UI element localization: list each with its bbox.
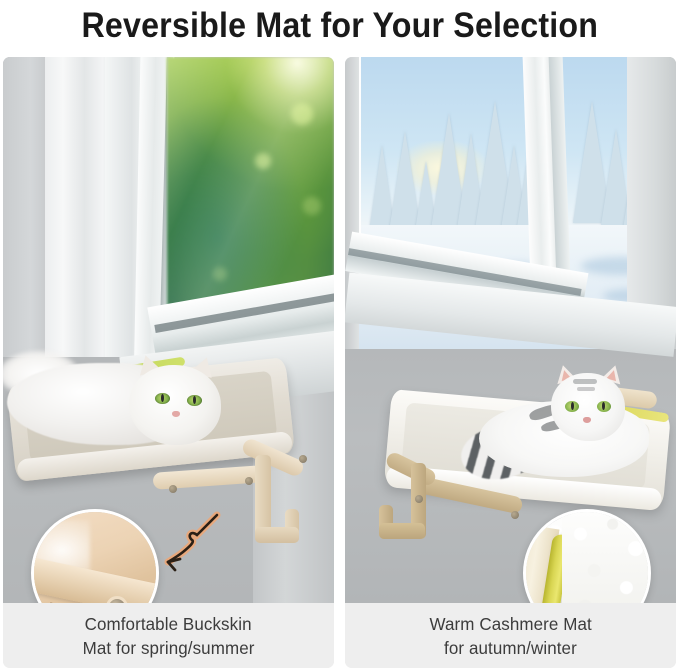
- caption-line-1: Warm Cashmere Mat: [429, 612, 591, 636]
- caption-cashmere: Warm Cashmere Mat for autumn/winter: [345, 603, 676, 668]
- screw-icon: [245, 477, 253, 485]
- cat-head: [129, 365, 221, 445]
- cat-eye-left: [155, 393, 170, 404]
- cat-eye-left: [565, 401, 579, 412]
- perch-bracket-hook: [379, 523, 425, 539]
- inset-buckskin-closeup[interactable]: [31, 509, 159, 603]
- screw-icon: [511, 511, 519, 519]
- cat-autumn-winter: [455, 363, 665, 493]
- perch-bracket-post: [255, 455, 271, 537]
- product-card-cashmere[interactable]: Warm Cashmere Mat for autumn/winter: [345, 57, 676, 668]
- inset-cashmere-closeup[interactable]: [523, 509, 651, 603]
- caption-line-1: Comfortable Buckskin: [85, 612, 252, 636]
- inset-fleece-texture: [562, 512, 651, 603]
- product-photo-autumn-winter: [345, 57, 676, 603]
- cat-pupil-right: [193, 396, 196, 404]
- page-header: Reversible Mat for Your Selection: [0, 0, 679, 52]
- cat-forehead-stripe: [573, 379, 597, 384]
- interior-wall: [3, 57, 49, 387]
- caption-line-2: Mat for spring/summer: [83, 636, 255, 660]
- cat-nose: [172, 411, 180, 417]
- cat-pupil-right: [602, 402, 605, 410]
- screw-icon: [169, 485, 177, 493]
- page-title: Reversible Mat for Your Selection: [81, 6, 598, 46]
- product-comparison-grid: Comfortable Buckskin Mat for spring/summ…: [3, 57, 676, 668]
- cat-eye-right: [187, 395, 202, 406]
- screw-icon: [299, 455, 307, 463]
- cat-spring-summer: [7, 343, 257, 455]
- cat-nose: [583, 417, 591, 423]
- curved-arrow-left-icon: [161, 509, 225, 575]
- perch-bracket-hook: [255, 527, 299, 543]
- cat-eye-right: [597, 401, 611, 412]
- screw-icon: [415, 495, 423, 503]
- cat-pupil-left: [571, 402, 574, 410]
- cat-pupil-left: [161, 394, 164, 402]
- product-photo-spring-summer: [3, 57, 334, 603]
- caption-buckskin: Comfortable Buckskin Mat for spring/summ…: [3, 603, 334, 668]
- cat-forehead-stripe: [577, 387, 595, 391]
- caption-line-2: for autumn/winter: [444, 636, 577, 660]
- product-card-buckskin[interactable]: Comfortable Buckskin Mat for spring/summ…: [3, 57, 334, 668]
